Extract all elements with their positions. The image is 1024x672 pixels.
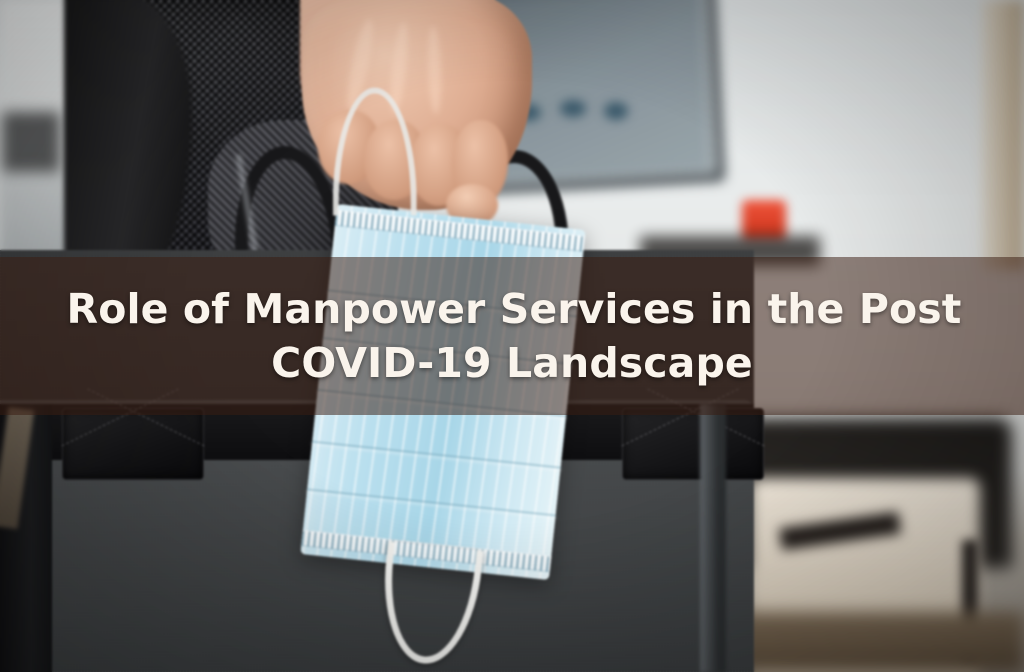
hero-banner: Role of Manpower Services in the Post CO…	[0, 0, 1024, 672]
briefcase-leather-tab	[622, 408, 764, 480]
screen-mark	[560, 100, 586, 117]
screen-mark	[604, 102, 628, 120]
banner-title-line-2: COVID-19 Landscape	[271, 336, 753, 390]
dark-object	[2, 112, 60, 172]
banner-title-line-1: Role of Manpower Services in the Post	[63, 282, 962, 336]
briefcase-leather-tab	[62, 408, 204, 480]
briefcase-seam	[700, 404, 726, 672]
title-overlay-band: Role of Manpower Services in the Post CO…	[0, 257, 1024, 415]
door-jamb	[982, 0, 1024, 270]
